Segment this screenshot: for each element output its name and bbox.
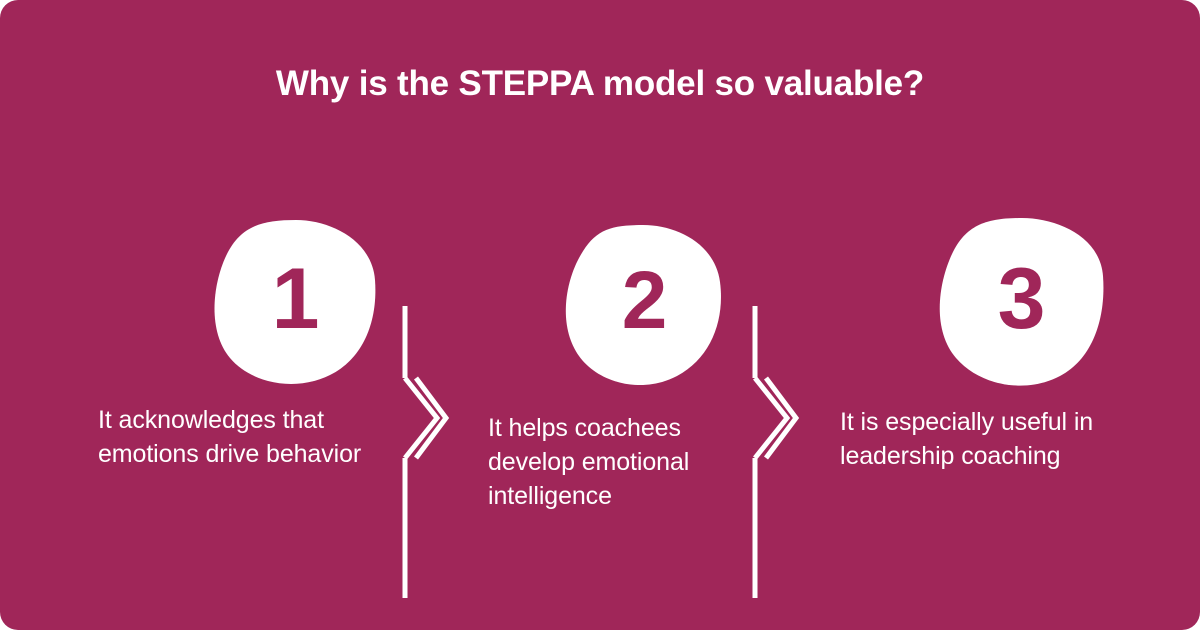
chevron-right-icon: [383, 300, 443, 610]
step-text-2: It helps coachees develop emotional inte…: [488, 411, 740, 513]
step-column-3: 3 It is especially useful in leadership …: [830, 0, 1110, 630]
step-badge-3: 3: [936, 216, 1106, 386]
step-column-1: 1 It acknowledges that emotions drive be…: [88, 0, 388, 630]
step-divider-2: [733, 300, 793, 610]
step-text-3: It is especially useful in leadership co…: [840, 405, 1112, 473]
step-number-2: 2: [565, 224, 723, 382]
step-divider-1: [383, 300, 443, 610]
step-text-1: It acknowledges that emotions drive beha…: [98, 403, 388, 471]
step-badge-1: 1: [212, 218, 378, 384]
chevron-right-icon: [733, 300, 793, 610]
step-column-2: 2 It helps coachees develop emotional in…: [478, 0, 740, 630]
infographic-card: Why is the STEPPA model so valuable? 1 I…: [0, 0, 1200, 630]
step-number-3: 3: [936, 216, 1106, 386]
step-number-1: 1: [212, 218, 378, 384]
step-badge-2: 2: [565, 224, 723, 382]
